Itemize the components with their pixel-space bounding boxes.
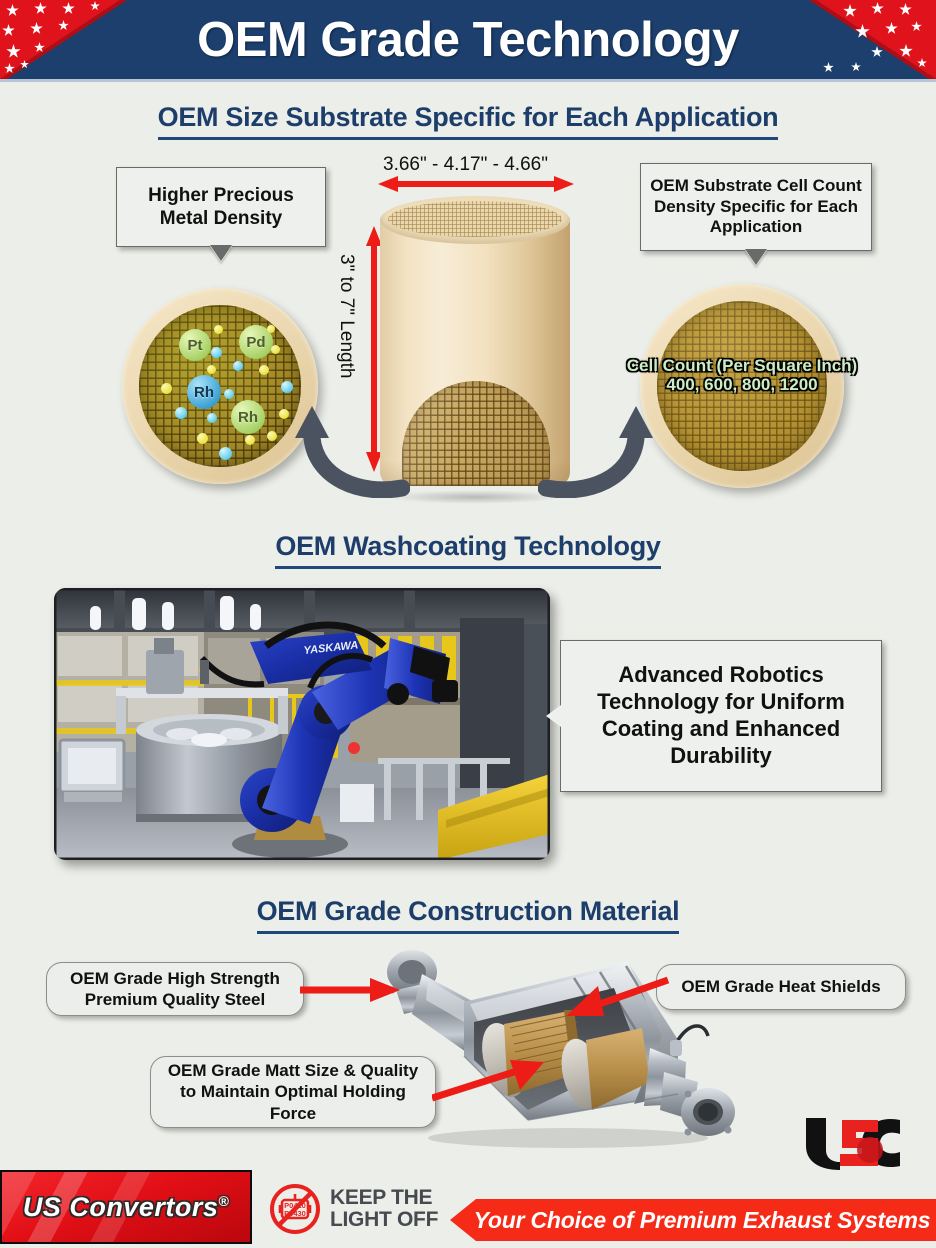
metal-particle [197,433,208,444]
metal-particle [281,381,293,393]
tagline-banner: Your Choice of Premium Exhaust Systems [450,1199,936,1241]
metal-particle [175,407,187,419]
callout-tail [210,246,232,262]
callout-heat-shields: OEM Grade Heat Shields [656,964,906,1010]
metal-particle [219,447,232,460]
callout-higher-precious-metal-density: Higher Precious Metal Density [116,167,326,247]
callout-oem-substrate-cell-count: OEM Substrate Cell Count Density Specifi… [640,163,872,251]
keep-the-light-off-badge: P0420 P0430 KEEP THE LIGHT OFF [268,1182,438,1236]
curved-arrow-right [538,398,658,498]
brand-name: US Convertors® [23,1192,229,1223]
metal-particle [271,345,280,354]
curved-arrow-left [290,398,410,498]
cell-count-annotation: Cell Count (Per Square Inch) 400, 600, 8… [600,356,884,394]
metal-particle [233,361,243,371]
callout-high-strength-steel: OEM Grade High Strength Premium Quality … [46,962,304,1016]
header-divider [0,79,936,82]
diameter-dimension-arrow [378,176,574,192]
metal-particle [279,409,289,419]
metal-particle [259,365,269,375]
metal-particle [207,413,217,423]
section-heading-washcoating: OEM Washcoating Technology [0,531,936,569]
length-label: 3" to 7" Length [335,254,357,378]
keep-the-light-off-text: KEEP THE LIGHT OFF [330,1187,438,1230]
usc-logo [800,1112,926,1174]
metal-particle [267,325,275,333]
metal-particle [214,325,223,334]
washcoating-robotics-photo: YASKAWA [54,588,550,860]
section-heading-construction: OEM Grade Construction Material [0,896,936,934]
metal-particle [211,347,222,358]
page-title: OEM Grade Technology [0,0,936,79]
metal-dot-pt: Pt [179,329,211,361]
infographic-page: OEM Grade Technology OEM Size Substrate … [0,0,936,1248]
section-heading-substrate: OEM Size Substrate Specific for Each App… [0,102,936,140]
diameter-label: 3.66" - 4.17" - 4.66" [383,154,548,176]
substrate-cutaway-honeycomb [402,381,550,486]
callout-tail [546,705,561,727]
metal-particle [207,365,216,374]
arrow-to-matt [432,1058,544,1102]
callout-matt-size-quality: OEM Grade Matt Size & Quality to Maintai… [150,1056,436,1128]
arrow-to-heat-shields [566,976,670,1018]
metal-dot-rh-blue: Rh [187,375,221,409]
metal-dot-rh-green: Rh [231,400,265,434]
metal-particle [245,435,255,445]
page-header: OEM Grade Technology [0,0,936,79]
no-check-engine-light-icon: P0420 P0430 [268,1182,322,1236]
metal-particle [224,389,234,399]
callout-tail [745,250,767,266]
substrate-top-face [380,196,570,244]
brand-badge: US Convertors® [0,1170,252,1244]
arrow-to-steel [300,978,400,1002]
callout-advanced-robotics: Advanced Robotics Technology for Uniform… [560,640,882,792]
metal-particle [267,431,277,441]
metal-particle [161,383,172,394]
precious-metal-closeup-circle: Pt Pd Rh Rh [122,288,318,484]
